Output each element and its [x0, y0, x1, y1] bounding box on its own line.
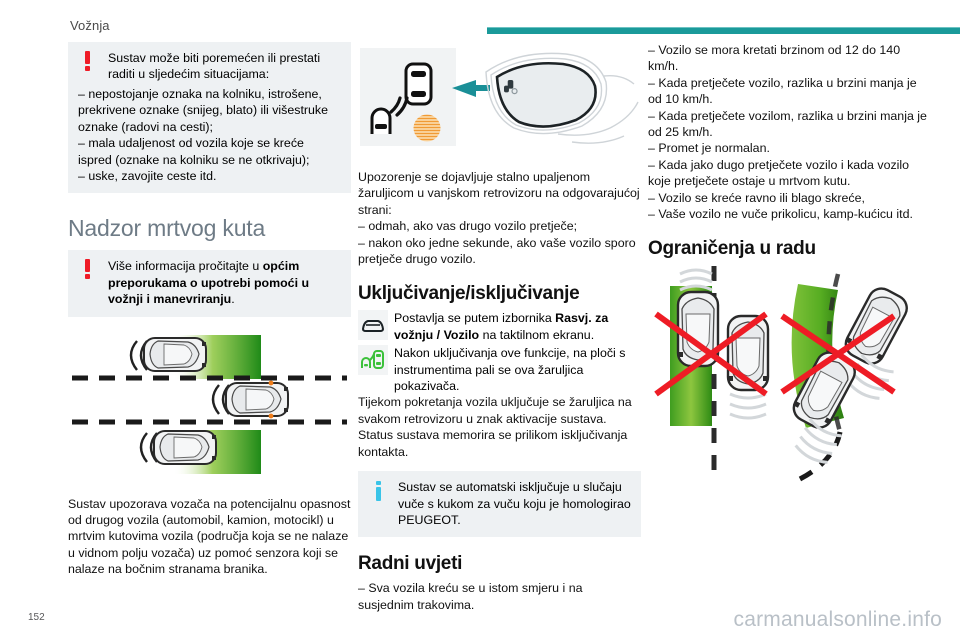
operating-condition-bullet: – Sva vozila kreću se u istom smjeru i n… [358, 580, 641, 613]
recommendation-text-plain: Više informacija pročitajte u [108, 259, 263, 273]
limitation-bullet: – Vaše vozilo ne vuče prikolicu, kamp-ku… [648, 206, 931, 222]
blind-spot-description: Sustav upozorava vozača na potencijalnu … [68, 496, 351, 578]
activation-menu-text: Postavlja se putem izbornika Rasvj. za v… [394, 310, 641, 343]
column-right: – Vozilo se mora kretati brzinom od 12 d… [648, 42, 931, 571]
recommendation-text: Više informacija pročitajte u općim prep… [78, 258, 341, 307]
limitation-bullet: – Kada pretječete vozilo, razlika u brzi… [648, 75, 931, 108]
activation-menu-plain: Postavlja se putem izbornika [394, 311, 555, 325]
operating-limitations-diagram [648, 266, 931, 571]
limitation-bullet: – Promet je normalan. [648, 140, 931, 156]
warning-lamp-bullet: – odmah, ako vas drugo vozilo pretječe; [358, 218, 641, 234]
note-text: Sustav se automatski isključuje u slučaj… [368, 479, 631, 528]
info-icon [368, 479, 398, 513]
column-left: Sustav može biti poremećen ili prestati … [68, 42, 351, 578]
watermark: carmanualsonline.info [734, 608, 943, 632]
limitation-bullet: – Kada pretječete vozilom, razlika u brz… [648, 108, 931, 141]
exclamation-icon [78, 258, 108, 292]
warning-lamp-bullet: – nakon oko jedne sekunde, ako vaše vozi… [358, 235, 641, 268]
recommendation-callout: Više informacija pročitajte u općim prep… [68, 250, 351, 316]
section-heading-limitations: Ograničenja u radu [648, 238, 931, 260]
column-middle: Upozorenje se dojavljuje stalno upaljeno… [358, 42, 641, 613]
activation-row-telltale: Nakon uključivanja ove funkcije, na ploč… [358, 345, 641, 394]
section-heading-activation: Uključivanje/isključivanje [358, 283, 641, 305]
page-header: Vožnja [0, 0, 960, 38]
limitation-bullet: – Vozilo se kreće ravno ili blago skreće… [648, 190, 931, 206]
limitation-bullet: – Kada jako dugo pretječete vozilo i kad… [648, 157, 931, 190]
page-number: 152 [28, 612, 45, 623]
warning-lead: Sustav može biti poremećen ili prestati … [78, 50, 341, 83]
section-title: Vožnja [70, 18, 110, 33]
blind-spot-lanes-svg [68, 335, 351, 485]
warning-item: – mala udaljenost od vozila koje se kreć… [78, 135, 341, 168]
blind-spot-lanes-diagram [68, 335, 351, 490]
activation-row-menu: Postavlja se putem izbornika Rasvj. za v… [358, 310, 641, 343]
car-front-icon [358, 310, 388, 340]
activation-paragraph: Tijekom pokretanja vozila uključuje se ž… [358, 394, 641, 460]
header-rule [487, 27, 960, 34]
warning-item: – uske, zavojite ceste itd. [78, 168, 341, 184]
operating-limitations-svg [648, 266, 938, 566]
page-title: Nadzor mrtvog kuta [68, 215, 351, 241]
mirror-warning-lamp-svg [358, 42, 641, 164]
note-callout: Sustav se automatski isključuje u slučaj… [358, 471, 641, 537]
exclamation-icon [78, 50, 108, 84]
mirror-warning-lamp-diagram [358, 42, 641, 169]
activation-telltale-text: Nakon uključivanja ove funkcije, na ploč… [394, 345, 641, 394]
recommendation-text-tail: . [231, 292, 234, 306]
activation-menu-tail: na taktilnom ekranu. [479, 328, 594, 342]
blind-spot-indicator-icon [358, 345, 388, 375]
limitation-bullet: – Vozilo se mora kretati brzinom od 12 d… [648, 42, 931, 75]
section-heading-operating-conditions: Radni uvjeti [358, 553, 641, 575]
warning-item: – nepostojanje oznaka na kolniku, istroš… [78, 86, 341, 135]
warning-callout: Sustav može biti poremećen ili prestati … [68, 42, 351, 193]
warning-lamp-paragraph: Upozorenje se dojavljuje stalno upaljeno… [358, 169, 641, 218]
